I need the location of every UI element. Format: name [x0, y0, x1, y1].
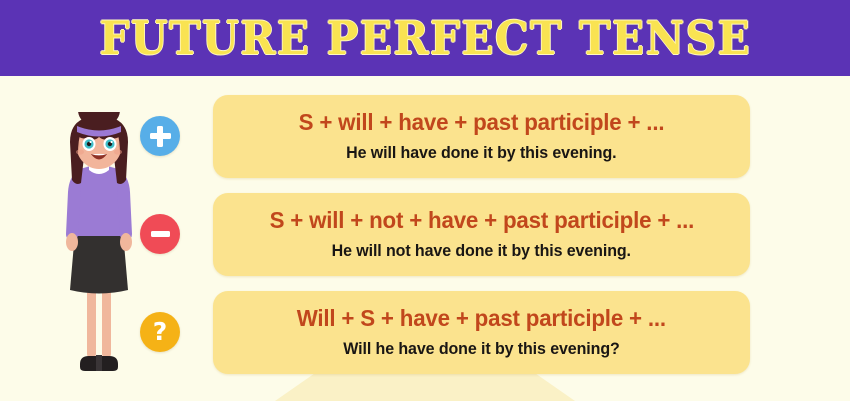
tense-row-negative: S + will + not + have + past participle … — [140, 192, 750, 276]
example-sentence: Will he have done it by this evening? — [343, 339, 619, 359]
example-sentence: He will not have done it by this evening… — [332, 241, 631, 261]
formula-text: S + will + have + past participle + ... — [299, 109, 665, 136]
cartoon-woman-illustration — [44, 112, 154, 380]
minus-icon — [140, 214, 180, 254]
header-bar: FUTURE PERFECT TENSE — [0, 0, 850, 76]
formula-card-affirmative: S + will + have + past participle + ... … — [213, 95, 750, 178]
page-title: FUTURE PERFECT TENSE — [99, 15, 751, 61]
formula-text: S + will + not + have + past participle … — [269, 207, 694, 234]
minus-icon-bar — [151, 231, 170, 237]
tense-row-affirmative: S + will + have + past participle + ... … — [140, 94, 750, 178]
question-mark-icon: ? — [140, 312, 180, 352]
infographic-page: FUTURE PERFECT TENSE — [0, 0, 850, 401]
example-sentence: He will have done it by this evening. — [346, 143, 616, 163]
formula-card-interrogative: Will + S + have + past participle + ... … — [213, 291, 750, 374]
question-mark-glyph: ? — [153, 319, 168, 344]
plus-icon-bar-vertical — [157, 126, 163, 147]
plus-icon — [140, 116, 180, 156]
tense-row-interrogative: ? Will + S + have + past participle + ..… — [140, 290, 750, 374]
formula-card-negative: S + will + not + have + past participle … — [213, 193, 750, 276]
formula-text: Will + S + have + past participle + ... — [297, 305, 666, 332]
